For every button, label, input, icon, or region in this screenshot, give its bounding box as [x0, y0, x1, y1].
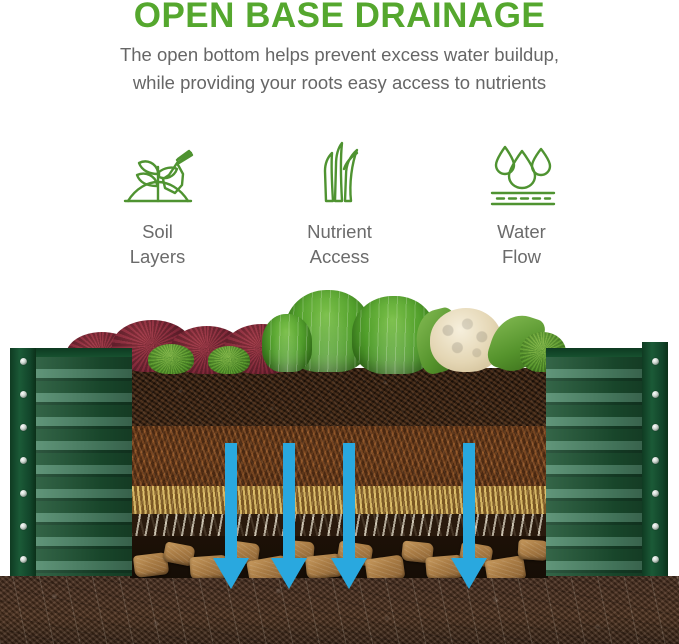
- soil-layer-stack: [130, 368, 548, 578]
- green-cabbage: [262, 314, 312, 372]
- water-drops-drainage-icon: [434, 138, 609, 210]
- wood-log: [425, 554, 464, 578]
- panel-screw: [20, 424, 27, 431]
- panel-screw: [20, 358, 27, 365]
- panel-screw: [652, 490, 659, 497]
- soil-texture-overlay: [130, 368, 548, 426]
- panel-top-rim: [546, 348, 646, 357]
- soil-layer-mulch-compost: [130, 426, 548, 486]
- feature-label-line-1: Water: [434, 219, 609, 244]
- garden-bed-cross-section-illustration: [0, 280, 679, 644]
- grass-blades-icon: [252, 138, 427, 210]
- wood-log: [189, 555, 229, 578]
- page-title: OPEN BASE DRAINAGE: [0, 0, 679, 34]
- subtitle-line-1: The open bottom helps prevent excess wat…: [0, 41, 679, 69]
- feature-list: Soil Layers Nutrient Access: [0, 138, 679, 269]
- panel-screw: [20, 523, 27, 530]
- garden-bed-panel-left: [10, 348, 132, 576]
- feature-soil-layers: Soil Layers: [70, 138, 245, 269]
- panel-screw: [652, 424, 659, 431]
- feature-water-flow: Water Flow: [434, 138, 609, 269]
- green-leaf-lettuce: [148, 344, 194, 374]
- feature-label-line-2: Layers: [70, 244, 245, 269]
- panel-screw: [652, 358, 659, 365]
- feature-label-line-2: Access: [252, 244, 427, 269]
- page-subtitle: The open bottom helps prevent excess wat…: [0, 41, 679, 97]
- panel-screw: [652, 457, 659, 464]
- soil-layer-logs-wood: [130, 536, 548, 578]
- wood-log: [365, 554, 406, 578]
- feature-water-flow-label: Water Flow: [434, 219, 609, 269]
- panel-screw: [652, 523, 659, 530]
- panel-top-rim: [34, 348, 132, 357]
- panel-screw: [20, 457, 27, 464]
- subtitle-line-2: while providing your roots easy access t…: [0, 69, 679, 97]
- soil-layer-topsoil: [130, 368, 548, 426]
- feature-soil-layers-label: Soil Layers: [70, 219, 245, 269]
- feature-nutrient-access-label: Nutrient Access: [252, 219, 427, 269]
- plant-with-trowel-icon: [70, 138, 245, 210]
- garden-bed-panel-right: [546, 342, 668, 576]
- panel-screw: [20, 556, 27, 563]
- green-leaf-lettuce: [208, 346, 250, 374]
- panel-screw: [652, 556, 659, 563]
- feature-label-line-1: Soil: [70, 219, 245, 244]
- wood-log: [517, 539, 548, 561]
- panel-screw: [20, 490, 27, 497]
- panel-screw: [652, 391, 659, 398]
- panel-corrugated-body: [34, 357, 132, 576]
- native-ground-soil: [0, 576, 679, 644]
- panel-corrugated-body: [546, 357, 646, 576]
- feature-nutrient-access: Nutrient Access: [252, 138, 427, 269]
- feature-label-line-2: Flow: [434, 244, 609, 269]
- panel-screw: [20, 391, 27, 398]
- feature-label-line-1: Nutrient: [252, 219, 427, 244]
- soil-texture-overlay: [130, 426, 548, 486]
- drainage-feature-page: OPEN BASE DRAINAGE The open bottom helps…: [0, 0, 679, 644]
